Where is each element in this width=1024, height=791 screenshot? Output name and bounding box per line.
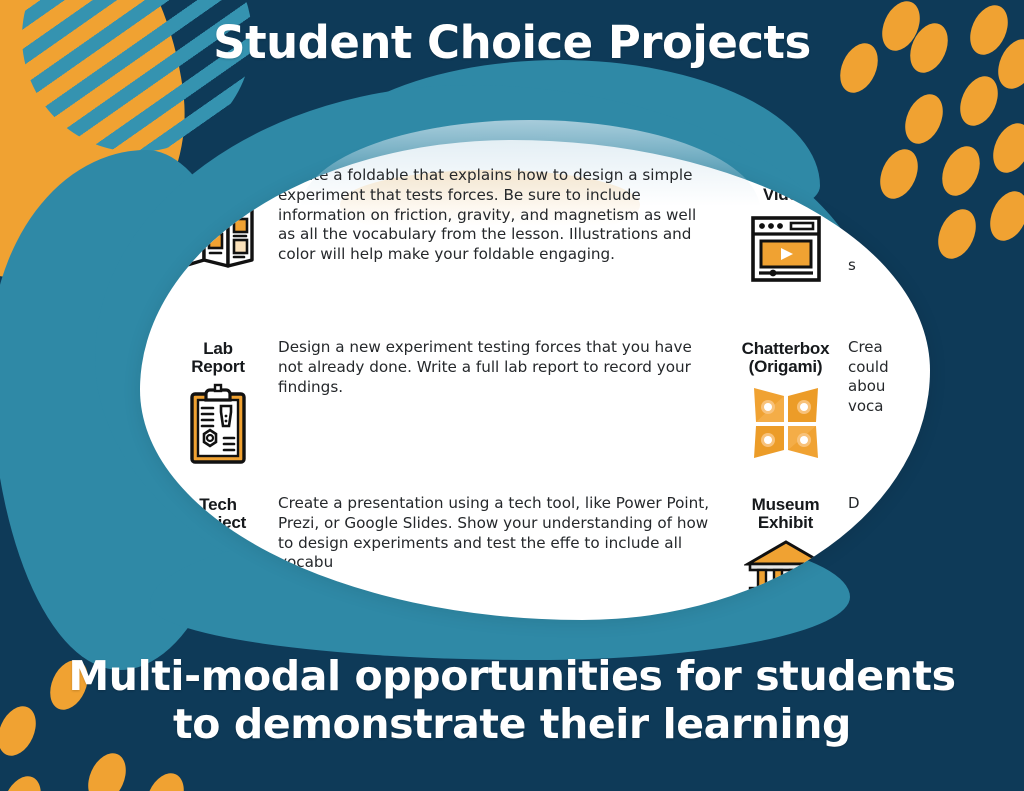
slide-canvas: Foldable: [0, 0, 1024, 791]
choice-board-table: Foldable: [140, 140, 930, 620]
label-text: Exhibit: [723, 514, 848, 532]
choice-description: s: [848, 164, 928, 276]
label-text: Tutor: [723, 168, 848, 186]
choice-label-museum-exhibit: Museum Exhibit: [723, 492, 848, 594]
label-text: Foldable: [158, 168, 278, 186]
tech-project-screen-icon: [176, 538, 260, 604]
tutorial-video-player-icon: [747, 210, 825, 288]
label-text: (Origami): [723, 358, 848, 376]
description-line: Crea: [848, 338, 922, 358]
page-title: Student Choice Projects: [0, 16, 1024, 69]
foldable-brochure-icon: [176, 192, 260, 276]
choice-description: D: [848, 492, 928, 514]
label-text: Lab: [158, 340, 278, 358]
caption-line-2: to demonstrate their learning: [0, 700, 1024, 748]
table-row: Tech Project Create a presentation using…: [140, 492, 930, 620]
slide-caption: Multi-modal opportunities for students t…: [0, 652, 1024, 749]
description-line: could: [848, 358, 922, 378]
choice-description: Design a new experiment testing forces t…: [278, 336, 723, 397]
museum-exhibit-icon: [744, 538, 828, 594]
label-text: Museum: [723, 496, 848, 514]
choice-cell-tech-project: Tech Project Create a presentation using…: [140, 492, 723, 620]
choice-label-tech-project: Tech Project: [158, 492, 278, 604]
label-text: Video: [723, 186, 848, 204]
choice-label-foldable: Foldable: [158, 164, 278, 276]
choice-cell-foldable: Foldable: [140, 164, 723, 324]
choice-description: Create a foldable that explains how to d…: [278, 164, 723, 265]
label-text: Chatterbox: [723, 340, 848, 358]
lab-report-clipboard-icon: [179, 382, 257, 468]
choice-description: Crea could abou voca: [848, 336, 928, 416]
choice-cell-museum-exhibit: Museum Exhibit: [723, 492, 928, 620]
choice-description: Create a presentation using a tech tool,…: [278, 492, 723, 573]
table-row: Lab Report: [140, 336, 930, 486]
choice-label-lab-report: Lab Report: [158, 336, 278, 468]
choice-label-chatterbox: Chatterbox (Origami): [723, 336, 848, 464]
origami-chatterbox-icon: [744, 382, 828, 464]
choice-cell-tutorial-video: Tutor Video s: [723, 164, 928, 324]
description-line: abou: [848, 377, 922, 397]
table-row: Foldable: [140, 164, 930, 324]
description-line: voca: [848, 397, 922, 417]
choice-cell-lab-report: Lab Report: [140, 336, 723, 486]
caption-line-1: Multi-modal opportunities for students: [68, 652, 955, 700]
choice-label-tutorial-video: Tutor Video: [723, 164, 848, 288]
label-text: Project: [158, 514, 278, 532]
choice-cell-chatterbox: Chatterbox (Origami): [723, 336, 928, 486]
label-text: Tech: [158, 496, 278, 514]
label-text: Report: [158, 358, 278, 376]
